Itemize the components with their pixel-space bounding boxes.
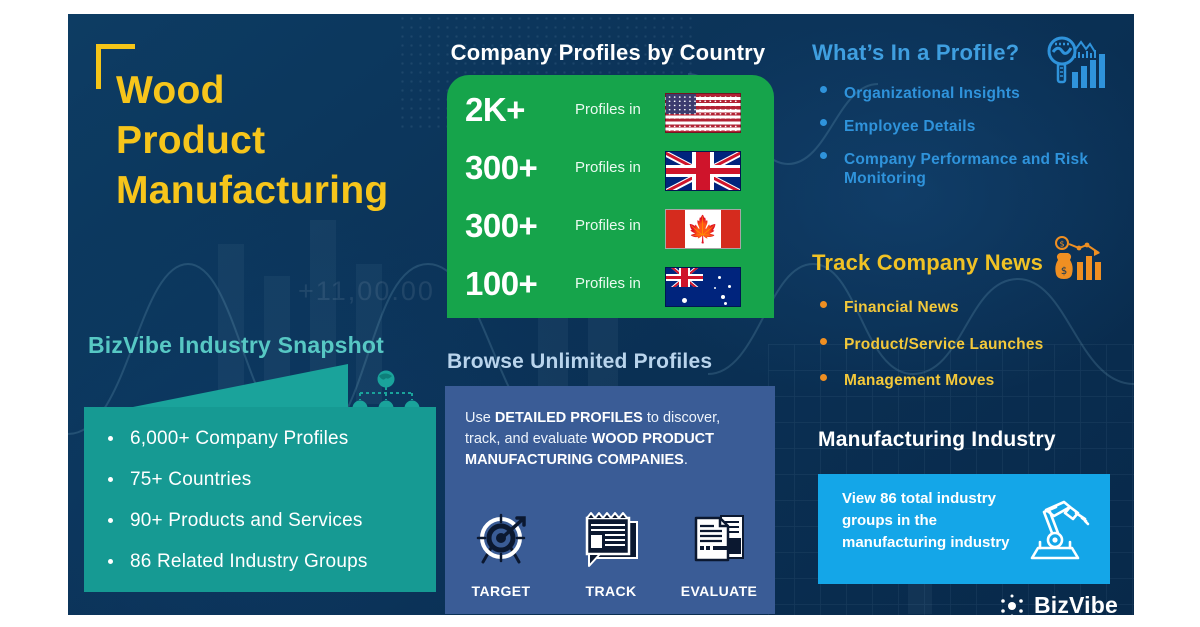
action-label: TRACK xyxy=(565,583,657,599)
snapshot-panel: 6,000+ Company Profiles 75+ Countries 90… xyxy=(84,407,436,592)
list-item: Organizational Insights xyxy=(812,84,1102,104)
flag-united-kingdom-icon xyxy=(665,151,741,191)
profile-count: 300+ xyxy=(465,199,537,253)
title-line-2: Product xyxy=(116,116,466,166)
snapshot-heading: BizVibe Industry Snapshot xyxy=(88,332,384,359)
profile-count: 100+ xyxy=(465,257,537,311)
browse-copy-p3: . xyxy=(684,452,688,468)
list-item: Employee Details xyxy=(812,117,1102,137)
profile-count: 2K+ xyxy=(465,83,525,137)
manufacturing-industry-callout: View 86 total industry groups in the man… xyxy=(818,474,1110,584)
action-evaluate[interactable]: EVALUATE xyxy=(673,510,765,599)
infographic-board: +11,00.00 Wood Product Manufacturing xyxy=(68,14,1134,615)
list-item: 6,000+ Company Profiles xyxy=(106,429,422,448)
profiles-by-country-heading: Company Profiles by Country xyxy=(443,40,773,66)
flag-australia-icon xyxy=(665,267,741,307)
browse-heading: Browse Unlimited Profiles xyxy=(447,350,712,374)
table-row: 100+ Profiles in xyxy=(447,257,774,311)
ticker-text: +11,00.00 xyxy=(298,276,435,307)
action-track[interactable]: TRACK xyxy=(565,510,657,599)
profile-label: Profiles in xyxy=(575,141,641,195)
list-item: Management Moves xyxy=(812,372,1112,391)
flag-canada-icon: 🍁 xyxy=(665,209,741,249)
notepad-news-icon xyxy=(579,510,643,572)
title-line-3: Manufacturing xyxy=(116,166,466,216)
browse-copy-b1: DETAILED PROFILES xyxy=(495,410,643,426)
manufacturing-industry-heading: Manufacturing Industry xyxy=(818,428,1056,452)
robotic-arm-icon xyxy=(1016,488,1094,568)
flag-united-states-icon xyxy=(665,93,741,133)
browse-copy: Use DETAILED PROFILES to discover, track… xyxy=(465,408,755,471)
profiles-by-country-panel: 2K+ Profiles in 300+ Profiles in 300+ Pr… xyxy=(447,75,774,318)
bizvibe-wordmark: BizVibe xyxy=(1034,592,1118,615)
profile-contents-heading: What’s In a Profile? xyxy=(812,40,1019,66)
svg-text:$: $ xyxy=(1059,240,1064,249)
list-item: Financial News xyxy=(812,299,1112,318)
target-arrow-icon xyxy=(469,510,533,572)
snapshot-callout-tail xyxy=(128,364,348,408)
list-item: Product/Service Launches xyxy=(812,336,1112,355)
company-news-list: Financial News Product/Service Launches … xyxy=(812,299,1112,409)
documents-review-icon xyxy=(687,510,751,572)
browse-panel: Use DETAILED PROFILES to discover, track… xyxy=(445,386,775,614)
profile-count: 300+ xyxy=(465,141,537,195)
browse-copy-p1: Use xyxy=(465,410,495,426)
bizvibe-logo: BizVibe xyxy=(999,592,1118,615)
list-item: Company Performance and Risk Monitoring xyxy=(812,150,1102,190)
svg-text:$: $ xyxy=(1061,266,1067,277)
action-label: EVALUATE xyxy=(673,583,765,599)
list-item: 86 Related Industry Groups xyxy=(106,552,422,571)
infographic-canvas: +11,00.00 Wood Product Manufacturing xyxy=(0,0,1200,627)
list-item: 90+ Products and Services xyxy=(106,511,422,530)
profile-label: Profiles in xyxy=(575,83,641,137)
manufacturing-industry-text: View 86 total industry groups in the man… xyxy=(842,488,1012,553)
list-item: 75+ Countries xyxy=(106,470,422,489)
company-news-heading: Track Company News xyxy=(812,250,1043,276)
money-bag-chart-icon: $ $ xyxy=(1053,236,1108,282)
action-label: TARGET xyxy=(455,583,547,599)
page-title: Wood Product Manufacturing xyxy=(116,66,466,216)
table-row: 2K+ Profiles in xyxy=(447,83,774,137)
profile-contents-list: Organizational Insights Employee Details… xyxy=(812,84,1102,202)
table-row: 300+ Profiles in xyxy=(447,141,774,195)
table-row: 300+ Profiles in 🍁 xyxy=(447,199,774,253)
profile-label: Profiles in xyxy=(575,199,641,253)
title-line-1: Wood xyxy=(116,66,466,116)
profile-label: Profiles in xyxy=(575,257,641,311)
action-target[interactable]: TARGET xyxy=(455,510,547,599)
snapshot-list: 6,000+ Company Profiles 75+ Countries 90… xyxy=(84,407,436,571)
bizvibe-sparkle-icon xyxy=(999,594,1027,616)
